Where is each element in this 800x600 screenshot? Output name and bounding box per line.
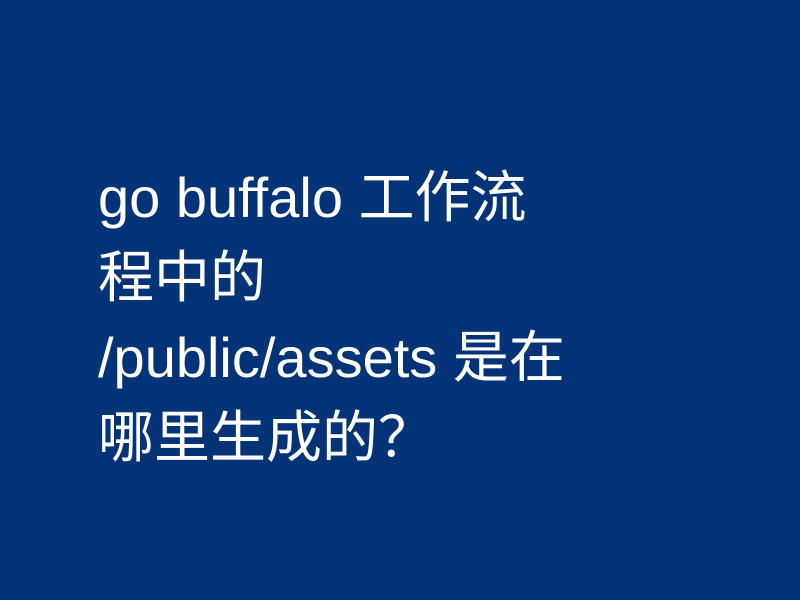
title-block: go buffalo 工作流程中的 /public/assets 是在哪里生成的… xyxy=(98,158,568,478)
page-title: go buffalo 工作流程中的 /public/assets 是在哪里生成的… xyxy=(98,158,568,478)
slide-canvas: go buffalo 工作流程中的 /public/assets 是在哪里生成的… xyxy=(0,0,800,600)
